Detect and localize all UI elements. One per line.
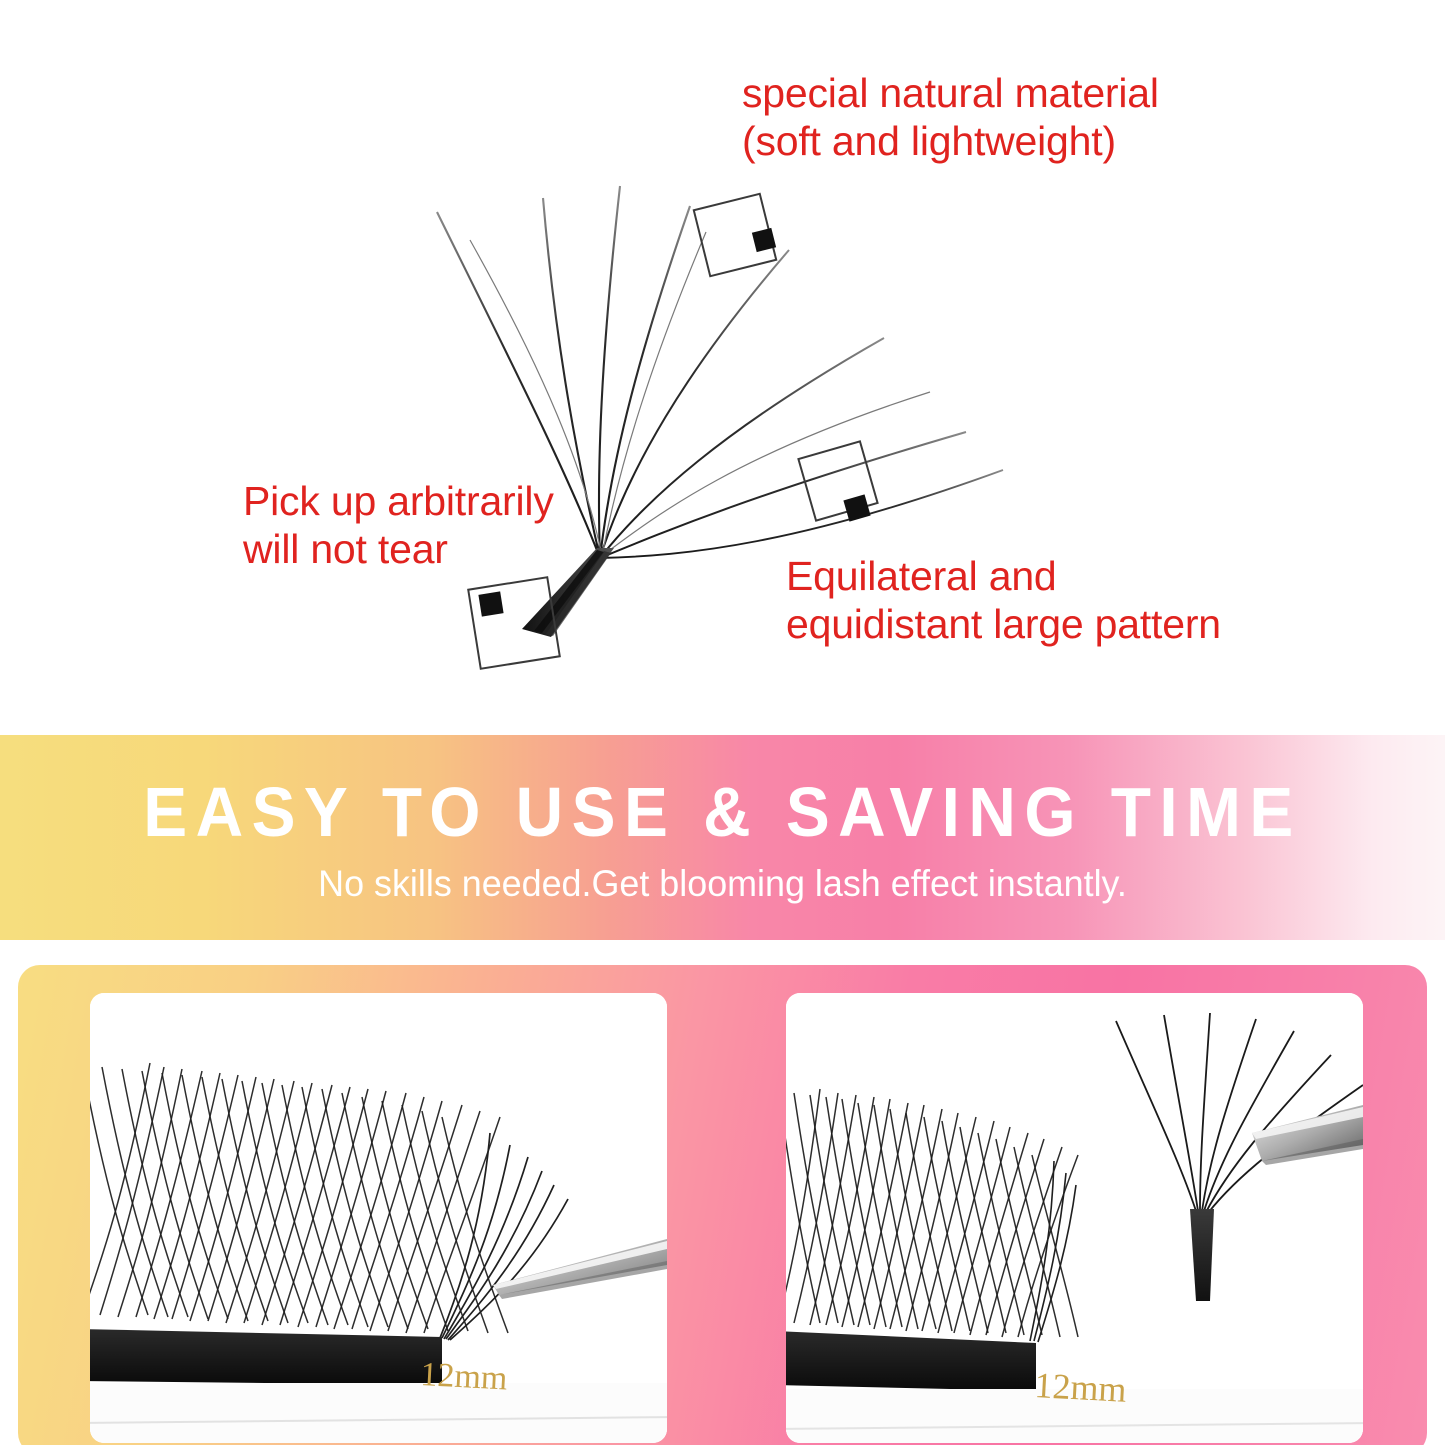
tray-size-label: 12mm — [1034, 1365, 1128, 1410]
callout-pick-up-arbitrarily: Pick up arbitrarily will not tear — [243, 478, 623, 573]
hero-diagram-section: special natural material (soft and light… — [0, 0, 1445, 735]
photo-card-lash-tray[interactable]: 12mm — [90, 993, 667, 1443]
callout-special-natural-material: special natural material (soft and light… — [742, 70, 1212, 165]
lash-tray-photo: 12mm — [90, 993, 667, 1443]
callout-equilateral-equidistant: Equilateral and equidistant large patter… — [786, 553, 1256, 648]
tray-size-label: 12mm — [420, 1356, 509, 1397]
photo-card-lash-fan-pickup[interactable]: 12mm — [786, 993, 1363, 1443]
lash-base-band — [90, 1329, 442, 1385]
lash-fan-pickup-photo: 12mm — [786, 993, 1363, 1443]
marker-top — [694, 194, 776, 276]
promo-banner: EASY TO USE & SAVING TIME No skills need… — [0, 735, 1445, 940]
marker-middle — [798, 441, 877, 521]
banner-subheadline: No skills needed.Get blooming lash effec… — [22, 865, 1424, 902]
banner-headline: EASY TO USE & SAVING TIME — [43, 777, 1401, 847]
